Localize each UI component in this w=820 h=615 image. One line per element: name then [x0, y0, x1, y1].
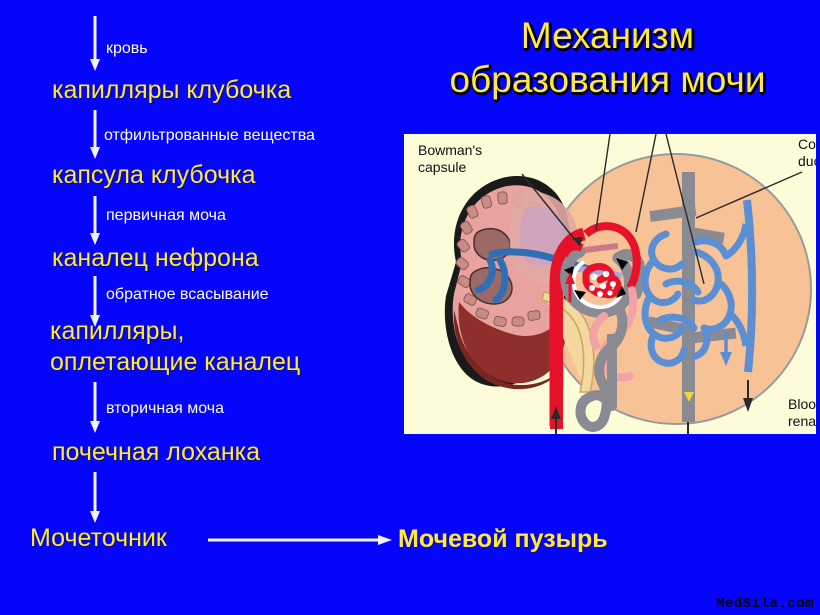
flow-step-7: Мочевой пузырь — [398, 524, 608, 555]
flow-arrow-2 — [88, 110, 102, 160]
bowmans-capsule-label: Bowman's capsule — [418, 142, 482, 176]
watermark: MedSila.com — [716, 596, 814, 612]
slide-canvas: Механизм образования мочи кровь капилляр… — [0, 0, 820, 615]
flow-transition-label-2: отфильтрованные вещества — [104, 126, 315, 146]
flow-transition-label-5: вторичная моча — [106, 399, 224, 419]
flow-transition-label-4: обратное всасывание — [106, 285, 269, 305]
flow-arrow-6 — [88, 472, 102, 524]
flow-step-4: капилляры, оплетающие каналец — [50, 316, 300, 378]
nephron-illustration — [404, 134, 816, 434]
blood-renal-vein-label: Bloo rena — [788, 396, 816, 430]
flow-arrow-7 — [208, 533, 393, 547]
flow-step-6: Мочеточник — [30, 523, 167, 554]
flow-arrow-5 — [88, 382, 102, 434]
nephron-diagram-figure: Bowman's capsule Col duc Bloo rena — [404, 134, 816, 434]
collecting-duct-label: Col duc — [798, 136, 816, 170]
flow-step-2: капсула клубочка — [52, 160, 256, 191]
flow-transition-label-3: первичная моча — [106, 206, 226, 226]
flow-step-5: почечная лоханка — [52, 437, 260, 468]
flow-arrow-3 — [88, 196, 102, 246]
page-title: Механизм образования мочи — [400, 14, 815, 102]
flow-step-1: капилляры клубочка — [52, 75, 291, 106]
flow-step-3: каналец нефрона — [52, 243, 259, 274]
flow-arrow-1 — [88, 16, 102, 72]
flow-transition-label-1: кровь — [106, 39, 148, 59]
